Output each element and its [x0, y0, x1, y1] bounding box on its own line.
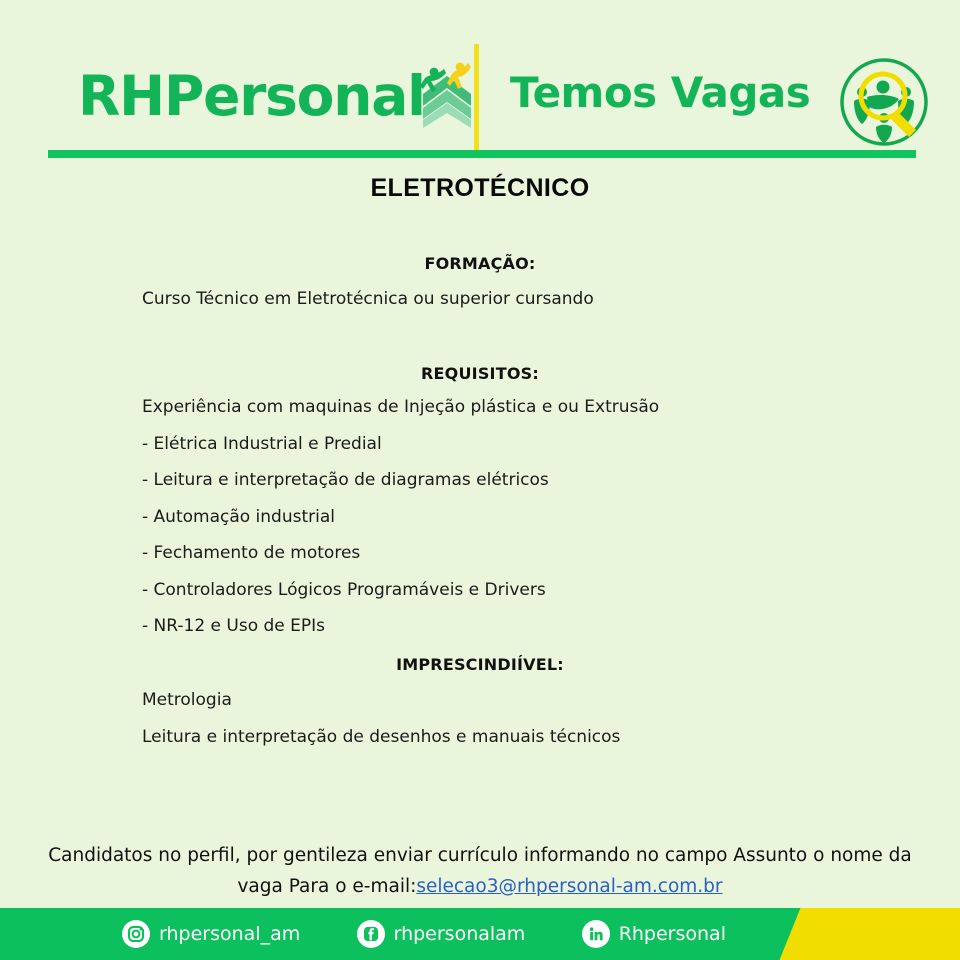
requisitos-item: - Automação industrial: [142, 507, 842, 527]
brand-name: RHPersonal: [78, 69, 425, 124]
section-heading-imprescindivel: IMPRESCINDIÍVEL:: [0, 655, 960, 674]
people-chevron-logo-icon: [419, 56, 475, 128]
requisitos-item: Experiência com maquinas de Injeção plás…: [142, 397, 842, 417]
social-link-instagram[interactable]: rhpersonal_am: [122, 920, 300, 948]
page-title: ELETROTÉCNICO: [0, 174, 960, 203]
requisitos-item: - Elétrica Industrial e Predial: [142, 434, 842, 454]
linkedin-handle: Rhpersonal: [619, 923, 726, 945]
instagram-handle: rhpersonal_am: [159, 923, 300, 945]
social-link-facebook[interactable]: rhpersonalam: [357, 920, 526, 948]
application-email-link[interactable]: selecao3@rhpersonal-am.com.br: [416, 876, 722, 897]
people-magnifier-emblem-icon: [838, 56, 930, 148]
poster-header: RHPersonal Temos Vagas: [0, 0, 960, 152]
application-instructions: Candidatos no perfil, por gentileza envi…: [30, 840, 930, 902]
linkedin-icon: [582, 920, 610, 948]
social-links: rhpersonal_am rhpersonalam: [0, 908, 760, 960]
requisitos-item: - Fechamento de motores: [142, 543, 842, 563]
facebook-icon: [357, 920, 385, 948]
instagram-icon: [122, 920, 150, 948]
social-link-linkedin[interactable]: Rhpersonal: [582, 920, 726, 948]
facebook-handle: rhpersonalam: [394, 923, 526, 945]
brand-lockup: RHPersonal: [78, 56, 475, 124]
requisitos-item: - Controladores Lógicos Programáveis e D…: [142, 580, 842, 600]
requisitos-item: - NR-12 e Uso de EPIs: [142, 616, 842, 636]
formacao-item: Curso Técnico em Eletrotécnica ou superi…: [142, 289, 842, 309]
requisitos-item: - Leitura e interpretação de diagramas e…: [142, 470, 842, 490]
imprescindivel-item: Leitura e interpretação de desenhos e ma…: [142, 727, 842, 747]
job-posting-poster: RHPersonal Temos Vagas: [0, 0, 960, 960]
header-tagline: Temos Vagas: [510, 72, 810, 114]
header-divider-rule: [48, 150, 916, 158]
section-heading-requisitos: REQUISITOS:: [0, 364, 960, 383]
section-heading-formacao: FORMAÇÃO:: [0, 254, 960, 273]
imprescindivel-item: Metrologia: [142, 690, 842, 710]
header-vertical-divider: [474, 44, 479, 152]
